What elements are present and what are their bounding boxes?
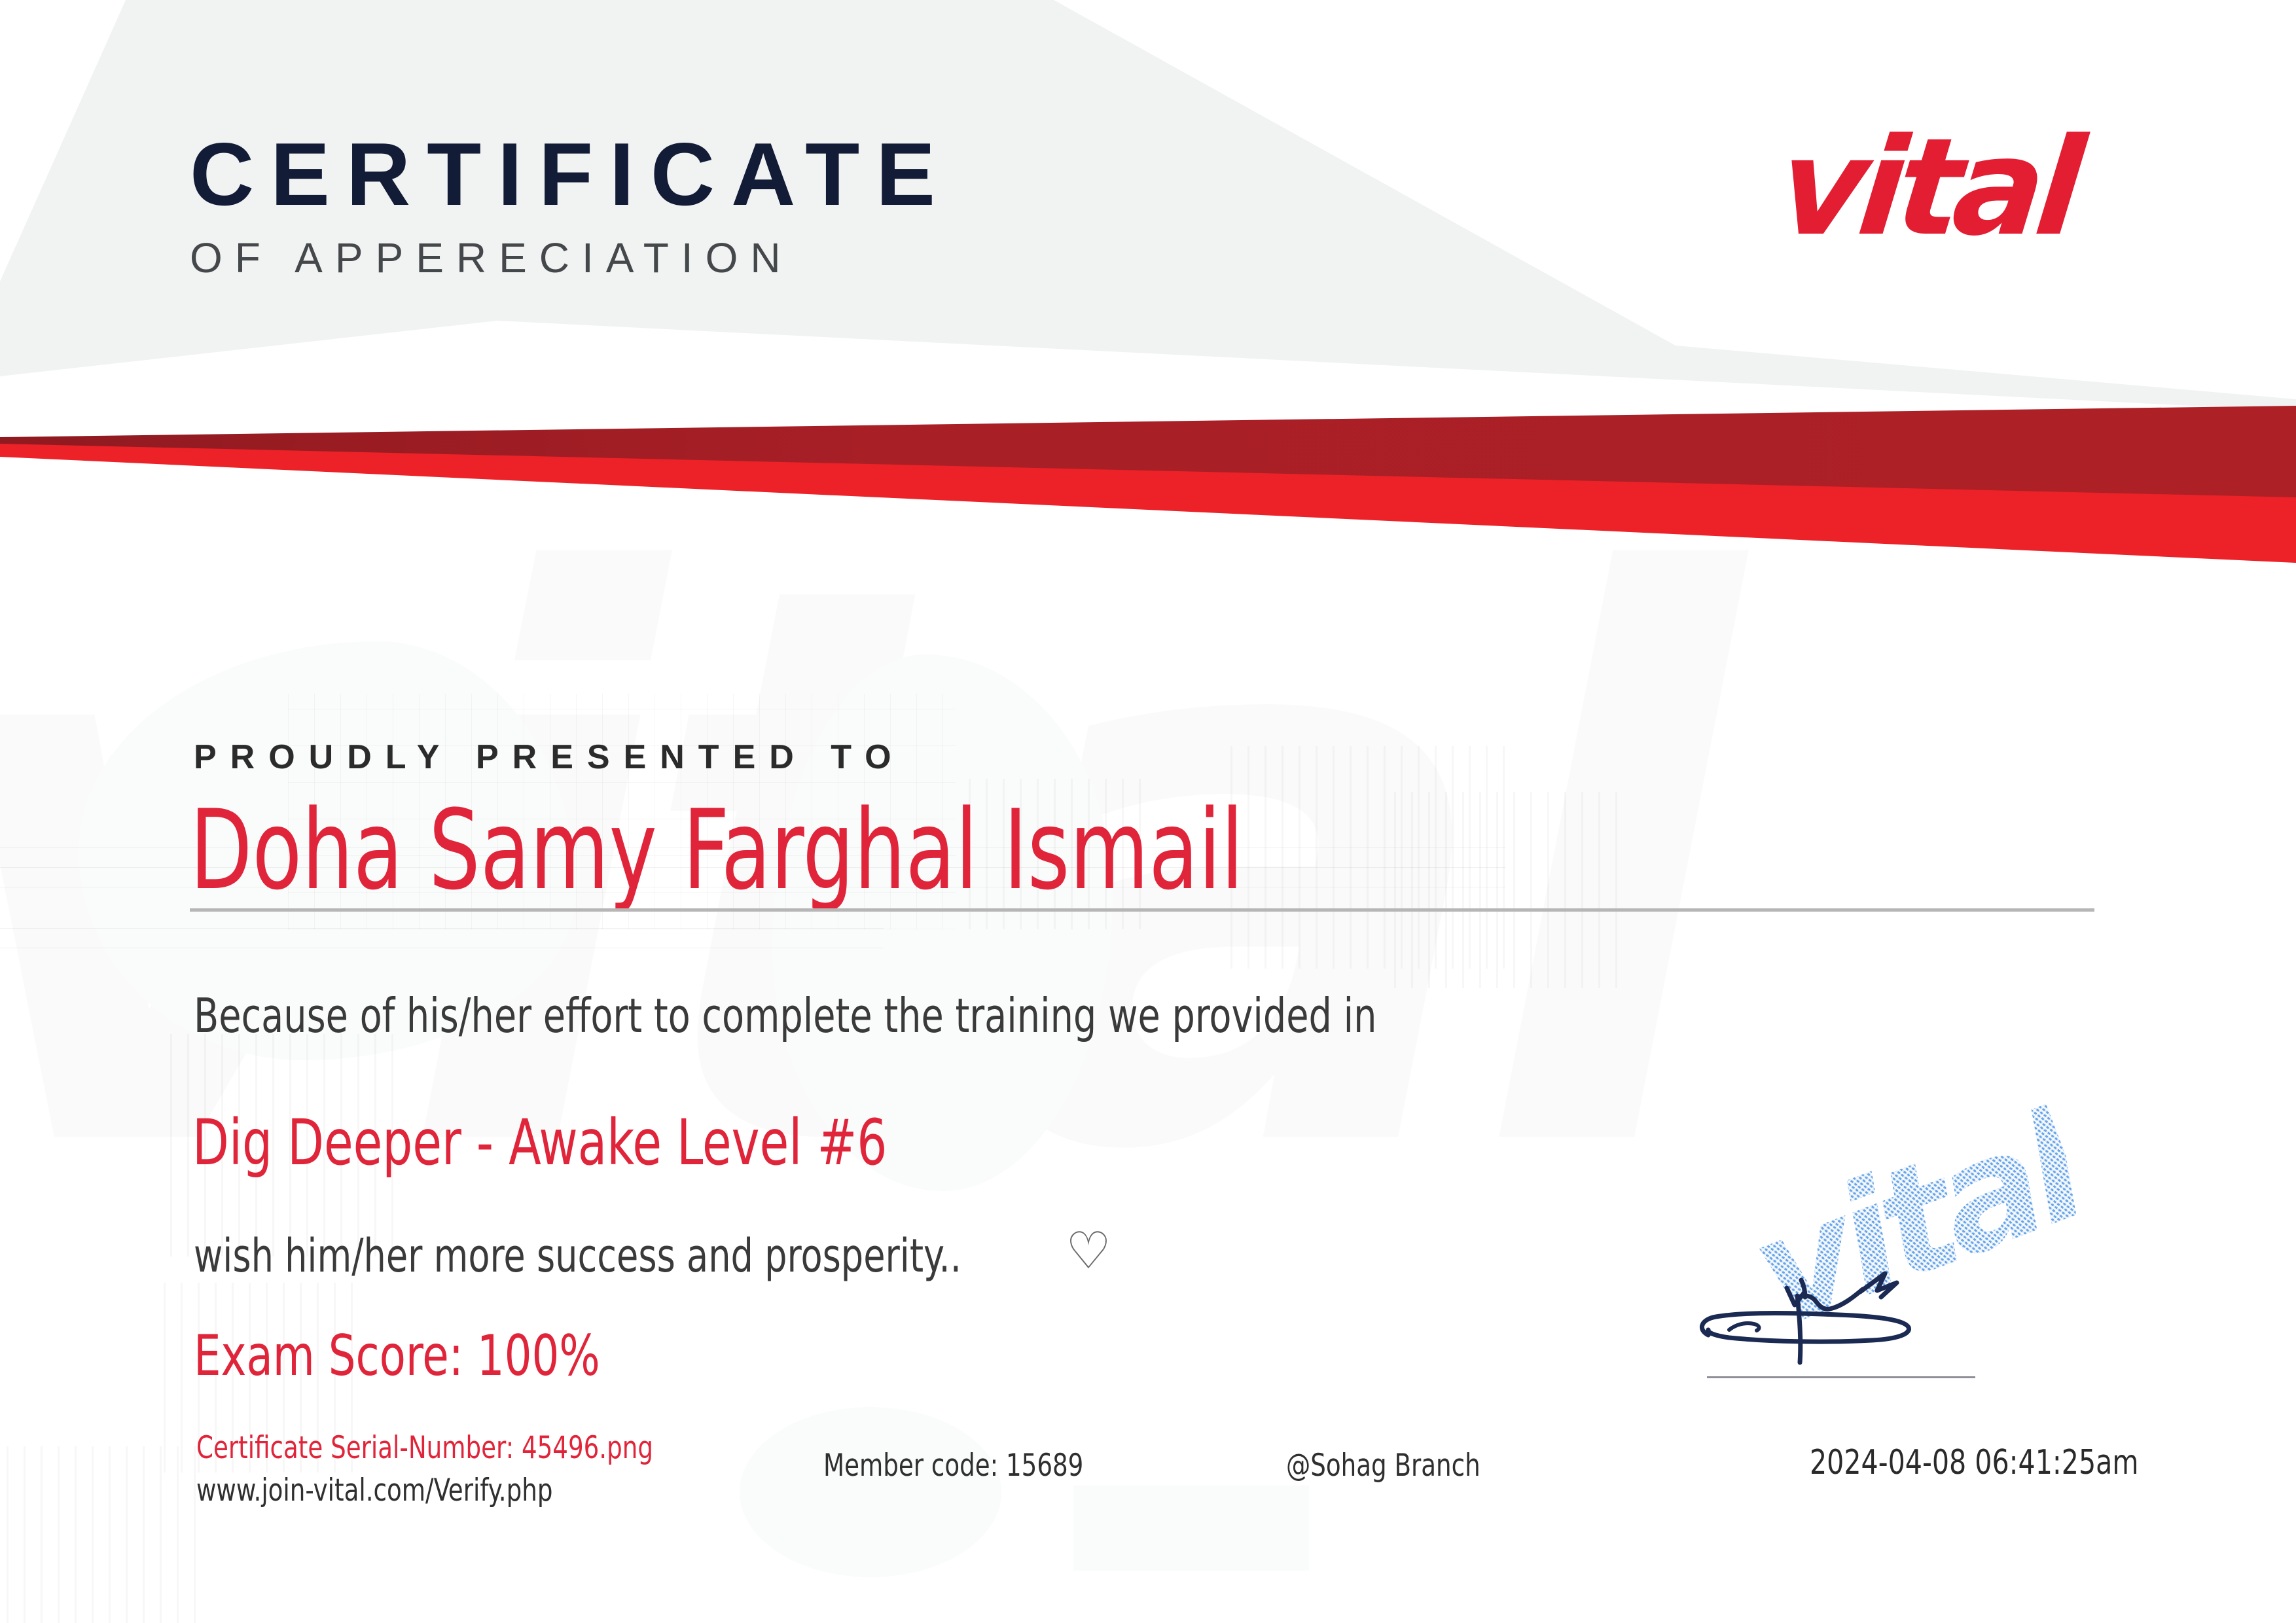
heart-icon: ♡ <box>1066 1225 1111 1276</box>
recipient-name: Doha Samy Farghal Ismail <box>190 795 1244 905</box>
certificate-page: vital CERTIFICATE OF APPERECIATION vital… <box>0 0 2296 1623</box>
member-code: Member code: 15689 <box>823 1448 1083 1484</box>
exam-score: Exam Score: 100% <box>194 1323 600 1389</box>
reason-line: Because of his/her effort to complete th… <box>194 988 1376 1043</box>
presented-to-label: PROUDLY PRESENTED TO <box>194 738 905 777</box>
course-title: Dig Deeper - Awake Level #6 <box>192 1106 887 1179</box>
branch-name: @Sohag Branch <box>1286 1448 1480 1484</box>
wish-line: wish him/her more success and prosperity… <box>194 1229 961 1283</box>
signature-icon <box>1689 1257 1990 1387</box>
verify-url[interactable]: www.join-vital.com/Verify.php <box>196 1472 552 1508</box>
approval-stamp: vital <box>1689 1191 2186 1466</box>
certificate-serial-number: Certificate Serial-Number: 45496.png <box>196 1430 653 1466</box>
recipient-name-underline <box>190 908 2094 912</box>
signature-line <box>1707 1376 1975 1378</box>
